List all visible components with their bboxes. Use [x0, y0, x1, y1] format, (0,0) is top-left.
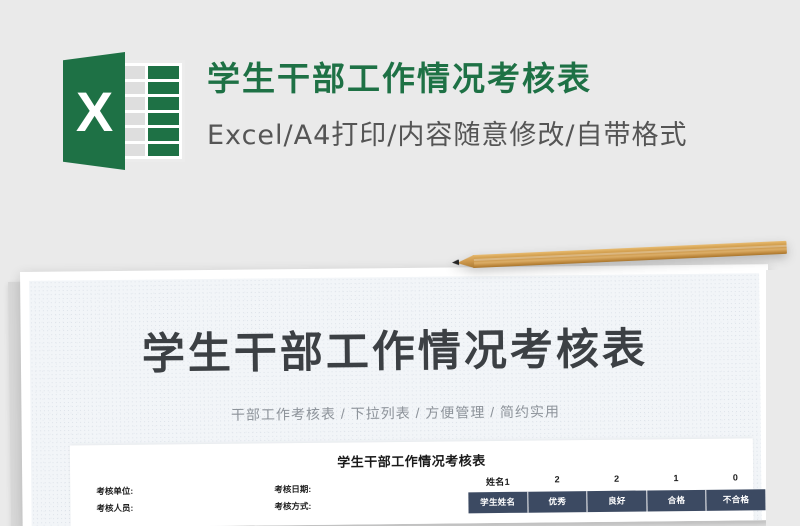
- page-right-margin: [766, 270, 800, 526]
- table-header-pass: 合格: [647, 490, 707, 512]
- label-assessment-person: 考核人员:: [96, 498, 274, 517]
- banner-text-block: 学生干部工作情况考核表 Excel/A4打印/内容随意修改/自带格式: [207, 52, 687, 152]
- pencil-lead: [452, 259, 459, 265]
- table-cell-count: 2: [528, 474, 588, 492]
- table-header-excellent: 优秀: [528, 491, 588, 513]
- label-assessment-method: 考核方式:: [274, 496, 454, 515]
- table-header-fail: 不合格: [707, 489, 766, 511]
- banner-content: X 学生干部工作情况考核表 Excel/A4打印/内容随意修改/自带格式: [63, 52, 687, 170]
- table-header-good: 良好: [588, 490, 648, 512]
- table-cell-count: 1: [646, 473, 706, 491]
- banner-subtitle: Excel/A4打印/内容随意修改/自带格式: [207, 113, 687, 152]
- table-header-row: 学生姓名 优秀 良好 合格 不合格: [468, 489, 765, 513]
- excel-grid-cell: [148, 66, 179, 79]
- sheet-title: 学生干部工作情况考核表: [70, 447, 753, 473]
- excel-icon: X: [63, 52, 185, 170]
- form-field-labels: 考核单位: 考核日期: 考核人员: 考核方式:: [96, 479, 454, 517]
- banner-title: 学生干部工作情况考核表: [207, 58, 687, 99]
- document-subtitle: 干部工作考核表 / 下拉列表 / 方便管理 / 简约实用: [30, 399, 760, 427]
- excel-grid-cell: [148, 82, 179, 95]
- document-preview-paper: 学生干部工作情况考核表 干部工作考核表 / 下拉列表 / 方便管理 / 简约实用…: [20, 264, 771, 526]
- rating-table: 姓名1 2 2 1 0 学生姓名 优秀 良好 合格 不合格: [468, 472, 765, 513]
- excel-grid-cell: [148, 97, 179, 110]
- excel-grid-cell: [148, 113, 179, 126]
- pencil-tip: [457, 255, 475, 269]
- table-cell-count: 0: [706, 472, 766, 490]
- table-cell-count: 姓名1: [468, 475, 528, 493]
- excel-grid-cell: [148, 128, 179, 141]
- excel-x-letter: X: [63, 52, 125, 170]
- label-assessment-unit: 考核单位:: [96, 481, 274, 500]
- table-header-student-name: 学生姓名: [468, 492, 528, 514]
- excel-grid: [117, 66, 179, 156]
- document-title: 学生干部工作情况考核表: [30, 313, 761, 383]
- label-assessment-date: 考核日期:: [274, 479, 454, 498]
- paper-surface: 学生干部工作情况考核表 干部工作考核表 / 下拉列表 / 方便管理 / 简约实用…: [29, 273, 762, 526]
- promo-banner: X 学生干部工作情况考核表 Excel/A4打印/内容随意修改/自带格式: [0, 0, 800, 250]
- excel-grid-cell: [148, 144, 179, 157]
- table-cell-count: 2: [587, 473, 647, 491]
- form-row: 考核人员: 考核方式:: [96, 496, 454, 517]
- spreadsheet-sheet: 学生干部工作情况考核表 考核单位: 考核日期: 考核人员: 考核方式: 姓名1 …: [70, 438, 754, 526]
